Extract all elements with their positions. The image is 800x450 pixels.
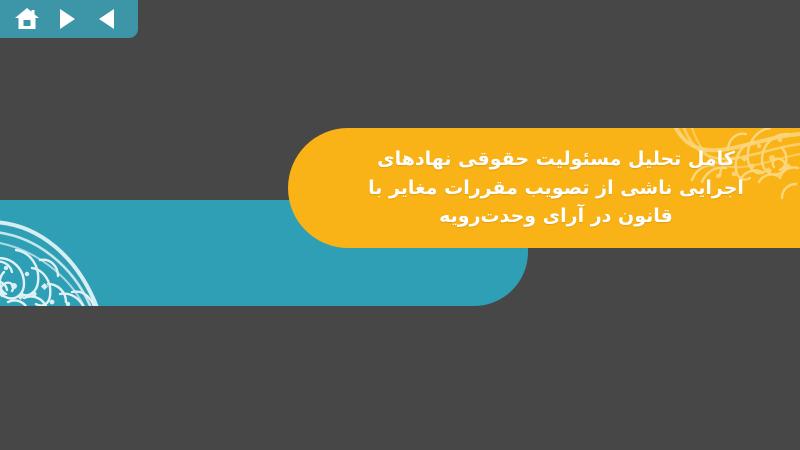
next-slide-button[interactable] (52, 4, 82, 34)
triangle-left-icon (97, 8, 117, 30)
triangle-right-icon (57, 8, 77, 30)
title-line-2: اجرایی ناشی از تصویب مقررات مغایر با (368, 175, 744, 202)
arabesque-corner-ornament (0, 200, 144, 306)
home-icon (14, 7, 40, 31)
slide-navigation-bar (0, 0, 138, 38)
home-button[interactable] (12, 4, 42, 34)
presentation-slide: کامل تحلیل مسئولیت حقوقی نهادهای اجرایی … (0, 0, 800, 450)
slide-title: کامل تحلیل مسئولیت حقوقی نهادهای اجرایی … (288, 128, 800, 248)
previous-slide-button[interactable] (92, 4, 122, 34)
slide-title-banner: کامل تحلیل مسئولیت حقوقی نهادهای اجرایی … (288, 128, 800, 248)
title-line-1: کامل تحلیل مسئولیت حقوقی نهادهای (377, 146, 735, 173)
title-line-3: قانون در آرای وحدت‌رویه (439, 203, 673, 230)
